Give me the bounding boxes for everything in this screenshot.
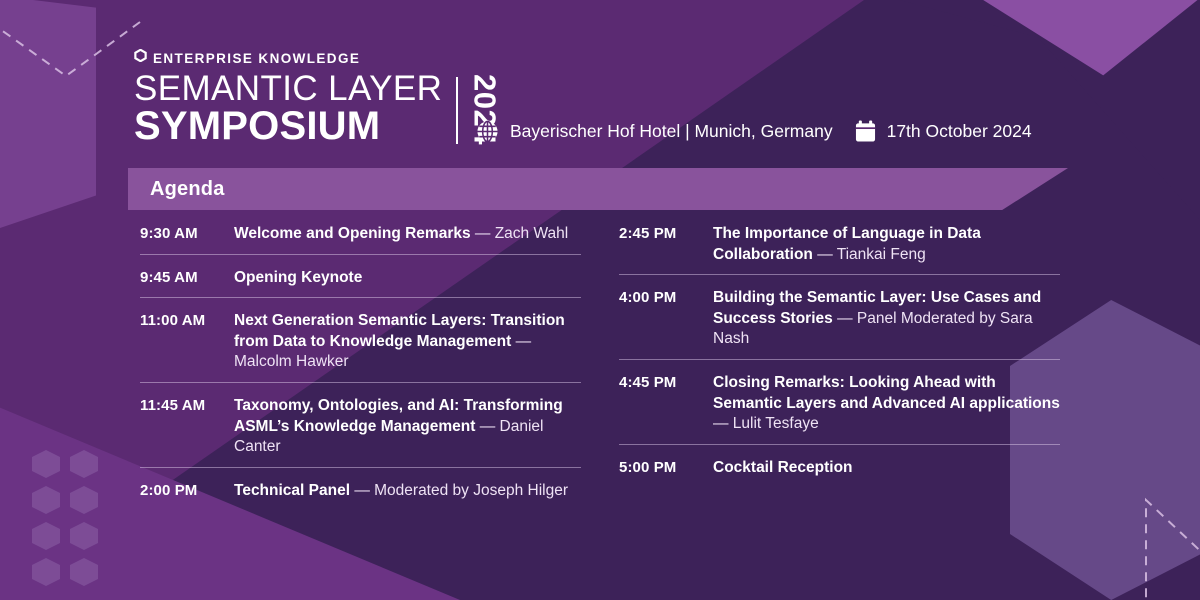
agenda-column-right: 2:45 PMThe Importance of Language in Dat… xyxy=(619,224,1060,523)
hexagon-dot xyxy=(32,450,60,478)
hexagon-dot xyxy=(70,450,98,478)
hexagon-dot xyxy=(70,558,98,586)
agenda-item-time: 11:45 AM xyxy=(140,396,234,458)
chevron-notch-shape xyxy=(980,0,1200,88)
agenda-item-body: Technical Panel — Moderated by Joseph Hi… xyxy=(234,481,568,502)
agenda-item: 4:45 PMClosing Remarks: Looking Ahead wi… xyxy=(619,373,1060,445)
hexagon-dot xyxy=(32,486,60,514)
agenda-banner: Agenda xyxy=(128,168,1068,210)
venue-text: Bayerischer Hof Hotel | Munich, Germany xyxy=(510,121,833,142)
agenda-item-time: 9:45 AM xyxy=(140,268,234,289)
agenda-item: 9:45 AMOpening Keynote xyxy=(140,268,581,299)
agenda-item-body: Opening Keynote xyxy=(234,268,362,289)
agenda-item-speaker: — Moderated by Joseph Hilger xyxy=(350,482,568,499)
agenda-item-time: 9:30 AM xyxy=(140,224,234,245)
symposium-agenda-poster: ENTERPRISE KNOWLEDGE SEMANTIC LAYER SYMP… xyxy=(0,0,1200,600)
brand-block: ENTERPRISE KNOWLEDGE SEMANTIC LAYER SYMP… xyxy=(134,52,500,146)
agenda-item-time: 4:00 PM xyxy=(619,288,713,350)
agenda-item: 5:00 PMCocktail Reception xyxy=(619,458,1060,488)
title-row: SEMANTIC LAYER SYMPOSIUM 2024 xyxy=(134,73,500,146)
globe-icon xyxy=(476,120,499,143)
top-left-angled-panel xyxy=(0,0,96,228)
agenda-item-body: The Importance of Language in Data Colla… xyxy=(713,224,1060,265)
event-title-line1: SEMANTIC LAYER xyxy=(134,73,442,106)
agenda-item-speaker: — Tiankai Feng xyxy=(813,246,926,263)
event-meta: Bayerischer Hof Hotel | Munich, Germany … xyxy=(476,120,1032,143)
agenda-item-speaker: — Zach Wahl xyxy=(471,225,569,242)
agenda-item: 2:00 PMTechnical Panel — Moderated by Jo… xyxy=(140,481,581,511)
ek-hexagon-mark-icon xyxy=(134,49,147,62)
agenda-item-body: Taxonomy, Ontologies, and AI: Transformi… xyxy=(234,396,581,458)
agenda-item-speaker: — Lulit Tesfaye xyxy=(713,415,819,432)
agenda-item: 11:00 AMNext Generation Semantic Layers:… xyxy=(140,311,581,383)
agenda-item-title: Technical Panel xyxy=(234,482,350,499)
organization-name: ENTERPRISE KNOWLEDGE xyxy=(153,52,360,66)
header-branding: ENTERPRISE KNOWLEDGE SEMANTIC LAYER SYMP… xyxy=(134,52,500,146)
hexagon-dot xyxy=(70,522,98,550)
agenda-column-left: 9:30 AMWelcome and Opening Remarks — Zac… xyxy=(140,224,581,523)
dashed-chevron-bottom-right xyxy=(1146,500,1200,600)
agenda-item-body: Next Generation Semantic Layers: Transit… xyxy=(234,311,581,373)
agenda-item-body: Building the Semantic Layer: Use Cases a… xyxy=(713,288,1060,350)
agenda-item-time: 2:00 PM xyxy=(140,481,234,502)
agenda-item-time: 4:45 PM xyxy=(619,373,713,435)
agenda-item-body: Closing Remarks: Looking Ahead with Sema… xyxy=(713,373,1060,435)
hexagon-dot xyxy=(32,522,60,550)
agenda-item: 11:45 AMTaxonomy, Ontologies, and AI: Tr… xyxy=(140,396,581,468)
hexagon-dot xyxy=(32,558,60,586)
agenda-item-time: 2:45 PM xyxy=(619,224,713,265)
agenda-item: 2:45 PMThe Importance of Language in Dat… xyxy=(619,224,1060,275)
organization-eyebrow: ENTERPRISE KNOWLEDGE xyxy=(134,52,500,66)
year-divider-rule xyxy=(456,77,458,144)
event-titles: SEMANTIC LAYER SYMPOSIUM xyxy=(134,73,442,146)
agenda-item-time: 5:00 PM xyxy=(619,458,713,479)
agenda-banner-title: Agenda xyxy=(150,178,225,201)
date-text: 17th October 2024 xyxy=(887,121,1032,142)
agenda-item-title: Opening Keynote xyxy=(234,269,362,286)
agenda-schedule: 9:30 AMWelcome and Opening Remarks — Zac… xyxy=(140,224,1060,523)
agenda-item-body: Cocktail Reception xyxy=(713,458,853,479)
agenda-item-body: Welcome and Opening Remarks — Zach Wahl xyxy=(234,224,568,245)
hexagon-dot xyxy=(70,486,98,514)
agenda-item-time: 11:00 AM xyxy=(140,311,234,373)
agenda-item-title: Cocktail Reception xyxy=(713,459,853,476)
dashed-chevron-top-left xyxy=(0,22,140,76)
hexagon-dot-grid xyxy=(32,450,98,586)
calendar-icon xyxy=(855,120,876,143)
agenda-item: 9:30 AMWelcome and Opening Remarks — Zac… xyxy=(140,224,581,255)
agenda-item-title: Closing Remarks: Looking Ahead with Sema… xyxy=(713,374,1060,412)
event-title-line2: SYMPOSIUM xyxy=(134,108,442,146)
agenda-item: 4:00 PMBuilding the Semantic Layer: Use … xyxy=(619,288,1060,360)
agenda-item-title: Welcome and Opening Remarks xyxy=(234,225,471,242)
